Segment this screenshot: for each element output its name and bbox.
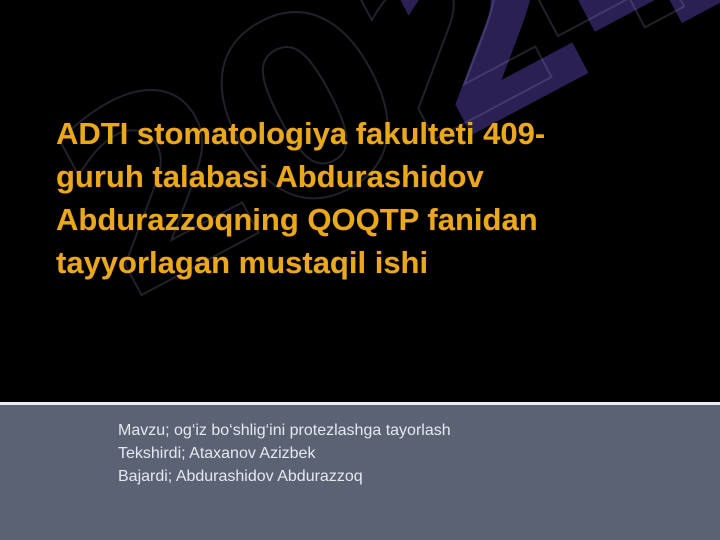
subtitle-line-author: Bajardi; Abdurashidov Abdurazzoq [118,465,451,488]
presentation-slide: 24 2024 2024 ADTI stomatologiya fakultet… [0,0,720,540]
slide-subtitle: Mavzu; og‘iz bo‘shlig‘ini protezlashga t… [118,419,451,488]
title-line: tayyorlagan mustaqil ishi [56,241,676,284]
title-line: ADTI stomatologiya fakulteti 409- [56,112,676,155]
slide-title: ADTI stomatologiya fakulteti 409- guruh … [56,112,676,284]
title-line: Abdurazzoqning QOQTP fanidan [56,198,676,241]
subtitle-line-topic: Mavzu; og‘iz bo‘shlig‘ini protezlashga t… [118,419,451,442]
subtitle-line-reviewer: Tekshirdi; Ataxanov Azizbek [118,442,451,465]
title-line: guruh talabasi Abdurashidov [56,155,676,198]
panel-divider-rule [0,402,720,405]
